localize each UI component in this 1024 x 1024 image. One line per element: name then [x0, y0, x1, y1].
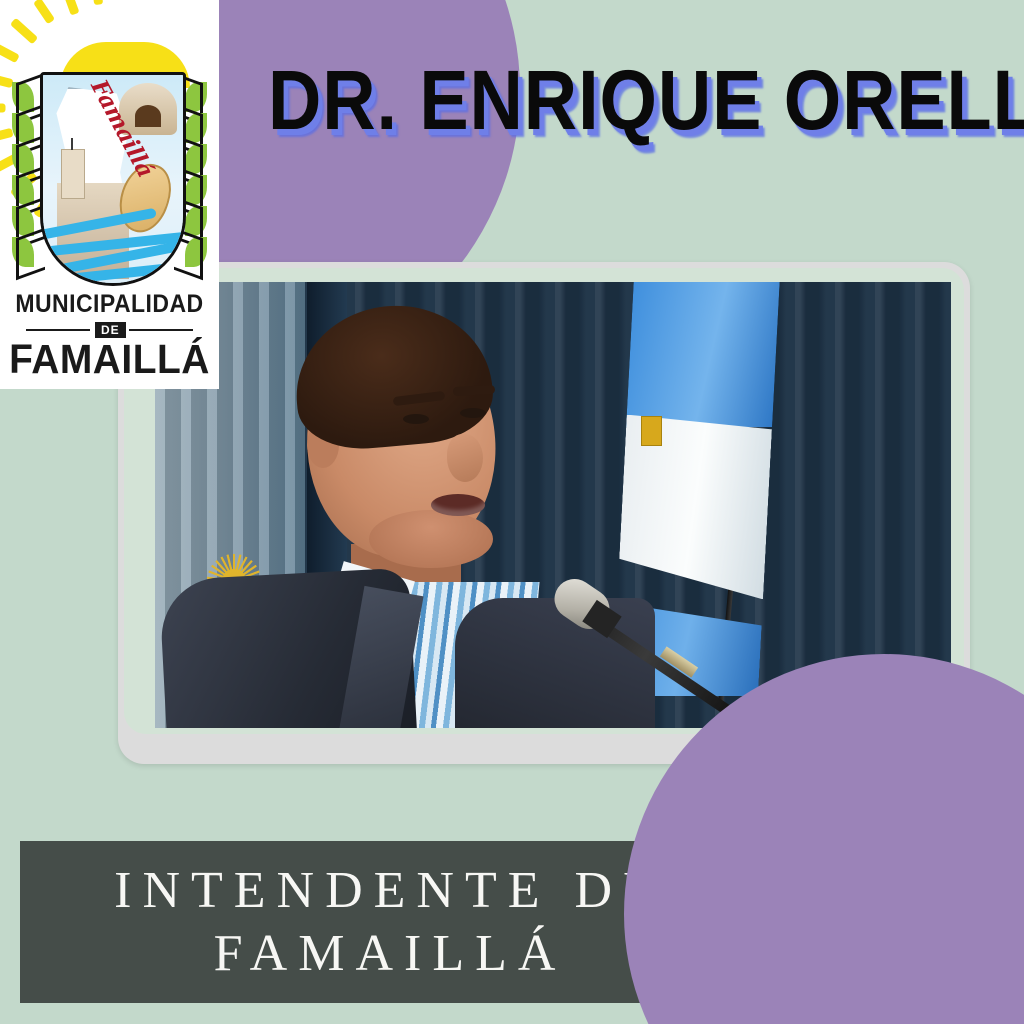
shield-church-tower [61, 149, 85, 199]
logo-sun-ray [61, 0, 80, 16]
eye-left [403, 414, 429, 424]
logo-sun-ray [0, 43, 20, 63]
municipality-logo: Famaillá MUNICIPALIDAD DE FAMAILLÁ [0, 0, 219, 389]
poster-canvas: DR. ENRIQUE ORELLANA INTENDENTE DE FAMAI… [0, 0, 1024, 1024]
logo-sun-ray [10, 18, 38, 45]
laurel-chevron [16, 228, 45, 281]
logo-sun-ray [33, 0, 55, 24]
coat-of-arms-shield: Famaillá [40, 72, 186, 286]
mouth [431, 494, 485, 516]
logo-text-famailla: FAMAILLÁ [5, 336, 213, 383]
page-title: DR. ENRIQUE ORELLANA [268, 58, 1024, 142]
eye-right [460, 408, 486, 418]
shield-river-line [40, 208, 157, 241]
logo-text-municipalidad: MUNICIPALIDAD [9, 290, 210, 319]
shield-river [43, 213, 183, 283]
nose [447, 434, 483, 482]
jaw [369, 510, 493, 568]
logo-sun-ray [91, 0, 103, 5]
flag-clip [641, 416, 662, 446]
logo-sun-ray [0, 104, 6, 113]
suit-jacket-right [455, 598, 655, 728]
